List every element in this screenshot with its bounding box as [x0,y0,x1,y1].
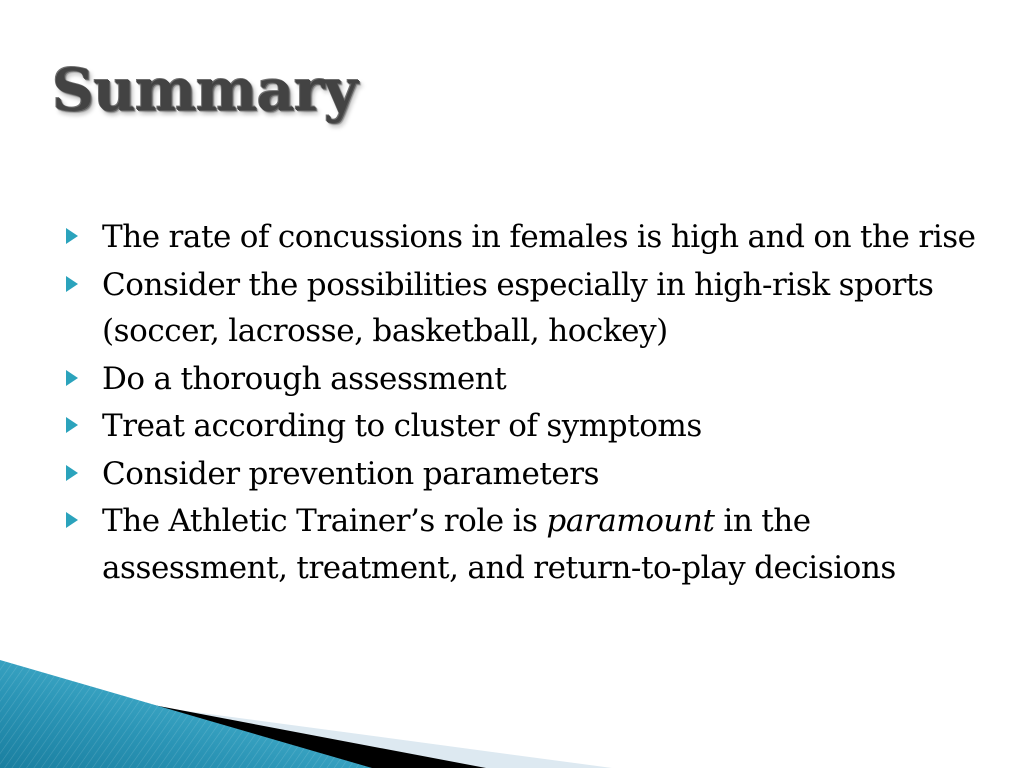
list-item: The Athletic Trainer’s role is paramount… [66,498,986,591]
bullet-text: The rate of concussions in females is hi… [102,214,986,261]
triangle-right-icon [66,498,102,528]
bottom-left-decoration [0,638,1024,768]
triangle-right-icon [66,451,102,481]
page-title: Summary [52,56,952,124]
emphasis-text: paramount [546,503,714,539]
bullet-text: The Athletic Trainer’s role is paramount… [102,498,986,591]
bullet-text: Consider the possibilities especially in… [102,262,986,355]
list-item: Do a thorough assessment [66,356,986,403]
plain-text: Do a thorough assessment [102,361,506,397]
triangle-right-icon [66,214,102,244]
teal-band [0,660,372,768]
title-placeholder: Summary [52,56,952,136]
plain-text: Treat according to cluster of symptoms [102,408,702,444]
plain-text: The Athletic Trainer’s role is [102,503,546,539]
slide-canvas: Summary The rate of concussions in femal… [0,0,1024,768]
triangle-right-icon [66,403,102,433]
bullet-text: Treat according to cluster of symptoms [102,403,986,450]
triangle-right-icon [66,356,102,386]
bullet-text: Do a thorough assessment [102,356,986,403]
triangle-right-icon [66,262,102,292]
plain-text: Consider prevention parameters [102,456,599,492]
content-placeholder: The rate of concussions in females is hi… [66,214,986,592]
list-item: Treat according to cluster of symptoms [66,403,986,450]
list-item: Consider the possibilities especially in… [66,262,986,355]
list-item: Consider prevention parameters [66,451,986,498]
plain-text: The rate of concussions in females is hi… [102,219,976,255]
decoration-graphic [0,638,1024,768]
plain-text: Consider the possibilities especially in… [102,267,934,350]
pale-blue-band [0,686,612,768]
black-band [0,676,486,768]
bullet-text: Consider prevention parameters [102,451,986,498]
list-item: The rate of concussions in females is hi… [66,214,986,261]
